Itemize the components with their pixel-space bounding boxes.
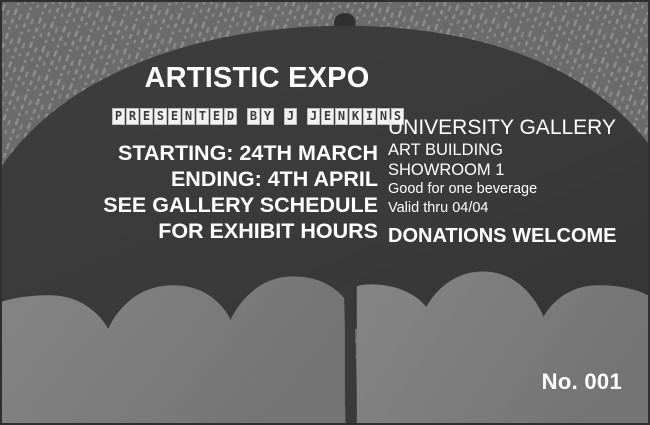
stamp-char: E: [168, 108, 181, 125]
schedule-line-ending: ENDING: 4TH APRIL: [2, 166, 378, 192]
stamp-char: Y: [261, 108, 274, 125]
stamp-char: R: [126, 108, 139, 125]
stamp-char: D: [224, 108, 237, 125]
donations-notice: DONATIONS WELCOME: [388, 224, 638, 248]
venue-name: UNIVERSITY GALLERY: [388, 116, 638, 140]
ticket-serial-number: No. 001: [542, 369, 622, 395]
schedule-line-see: SEE GALLERY SCHEDULE: [2, 192, 378, 218]
stamp-char: B: [247, 108, 260, 125]
venue-building: ART BUILDING: [388, 140, 638, 160]
stamp-char: S: [154, 108, 167, 125]
stamp-char: N: [335, 108, 348, 125]
stamp-char: I: [363, 108, 376, 125]
stamp-char: E: [140, 108, 153, 125]
stamp-char: P: [112, 108, 125, 125]
event-title: ARTISTIC EXPO: [2, 64, 512, 93]
schedule-line-starting: STARTING: 24TH MARCH: [2, 140, 378, 166]
stamp-char: E: [321, 108, 334, 125]
schedule-line-hours: FOR EXHIBIT HOURS: [2, 218, 378, 244]
stamp-char: K: [349, 108, 362, 125]
ticket-canvas: ARTISTIC EXPO PRESENTEDBYJJENKINS STARTI…: [2, 2, 648, 423]
event-ticket: ARTISTIC EXPO PRESENTEDBYJJENKINS STARTI…: [0, 0, 650, 425]
event-schedule-block: STARTING: 24TH MARCH ENDING: 4TH APRIL S…: [2, 140, 378, 244]
validity-note: Valid thru 04/04: [388, 199, 638, 218]
beverage-note: Good for one beverage: [388, 180, 638, 199]
presented-by-stamps: PRESENTEDBYJJENKINS: [112, 108, 405, 125]
stamp-char: T: [196, 108, 209, 125]
venue-room: SHOWROOM 1: [388, 160, 638, 180]
stamp-char: N: [182, 108, 195, 125]
ticket-text-layer: ARTISTIC EXPO PRESENTEDBYJJENKINS STARTI…: [2, 2, 648, 423]
stamp-char: J: [307, 108, 320, 125]
stamp-char: J: [284, 108, 297, 125]
stamp-char: E: [210, 108, 223, 125]
venue-block: UNIVERSITY GALLERY ART BUILDING SHOWROOM…: [388, 116, 638, 248]
